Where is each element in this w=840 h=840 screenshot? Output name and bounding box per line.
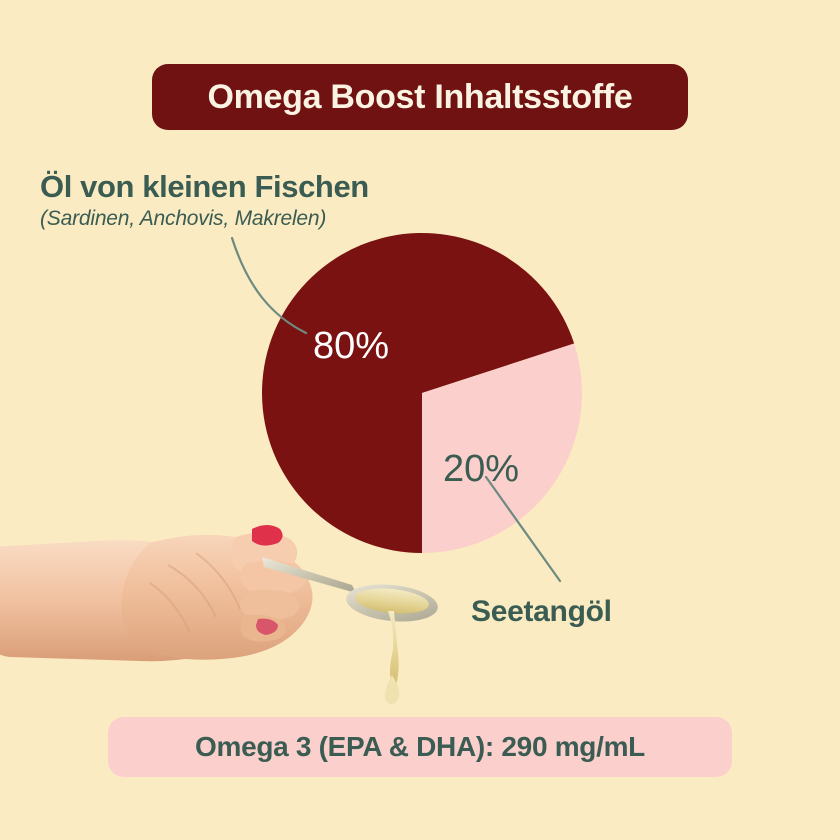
leader-line-seaweed-oil-icon	[486, 477, 560, 581]
callout-fish-subtitle: (Sardinen, Anchovis, Makrelen)	[40, 205, 460, 233]
oil-drip-stream-shape	[388, 611, 399, 685]
hand-holding-spoon-illustration	[0, 505, 460, 720]
leader-line-fish-oil-icon	[232, 238, 306, 333]
callout-label-seaweed-oil: Seetangöl	[471, 595, 612, 629]
pie-label-seaweed-oil: 20%	[443, 448, 519, 490]
footer-banner: Omega 3 (EPA & DHA): 290 mg/mL	[108, 717, 732, 777]
fingernail-shape	[252, 525, 283, 546]
omega-3-content-text: Omega 3 (EPA & DHA): 290 mg/mL	[195, 731, 645, 763]
pie-label-fish-oil: 80%	[313, 325, 389, 367]
page-title: Omega Boost Inhaltsstoffe	[207, 78, 632, 117]
title-banner: Omega Boost Inhaltsstoffe	[152, 64, 688, 130]
hand-spoon-svg	[0, 505, 460, 720]
callout-label-fish-oil: Öl von kleinen Fischen (Sardinen, Anchov…	[40, 170, 460, 234]
callout-fish-title: Öl von kleinen Fischen	[40, 170, 460, 203]
infographic-canvas: Omega Boost Inhaltsstoffe Öl von kleinen…	[0, 0, 840, 840]
